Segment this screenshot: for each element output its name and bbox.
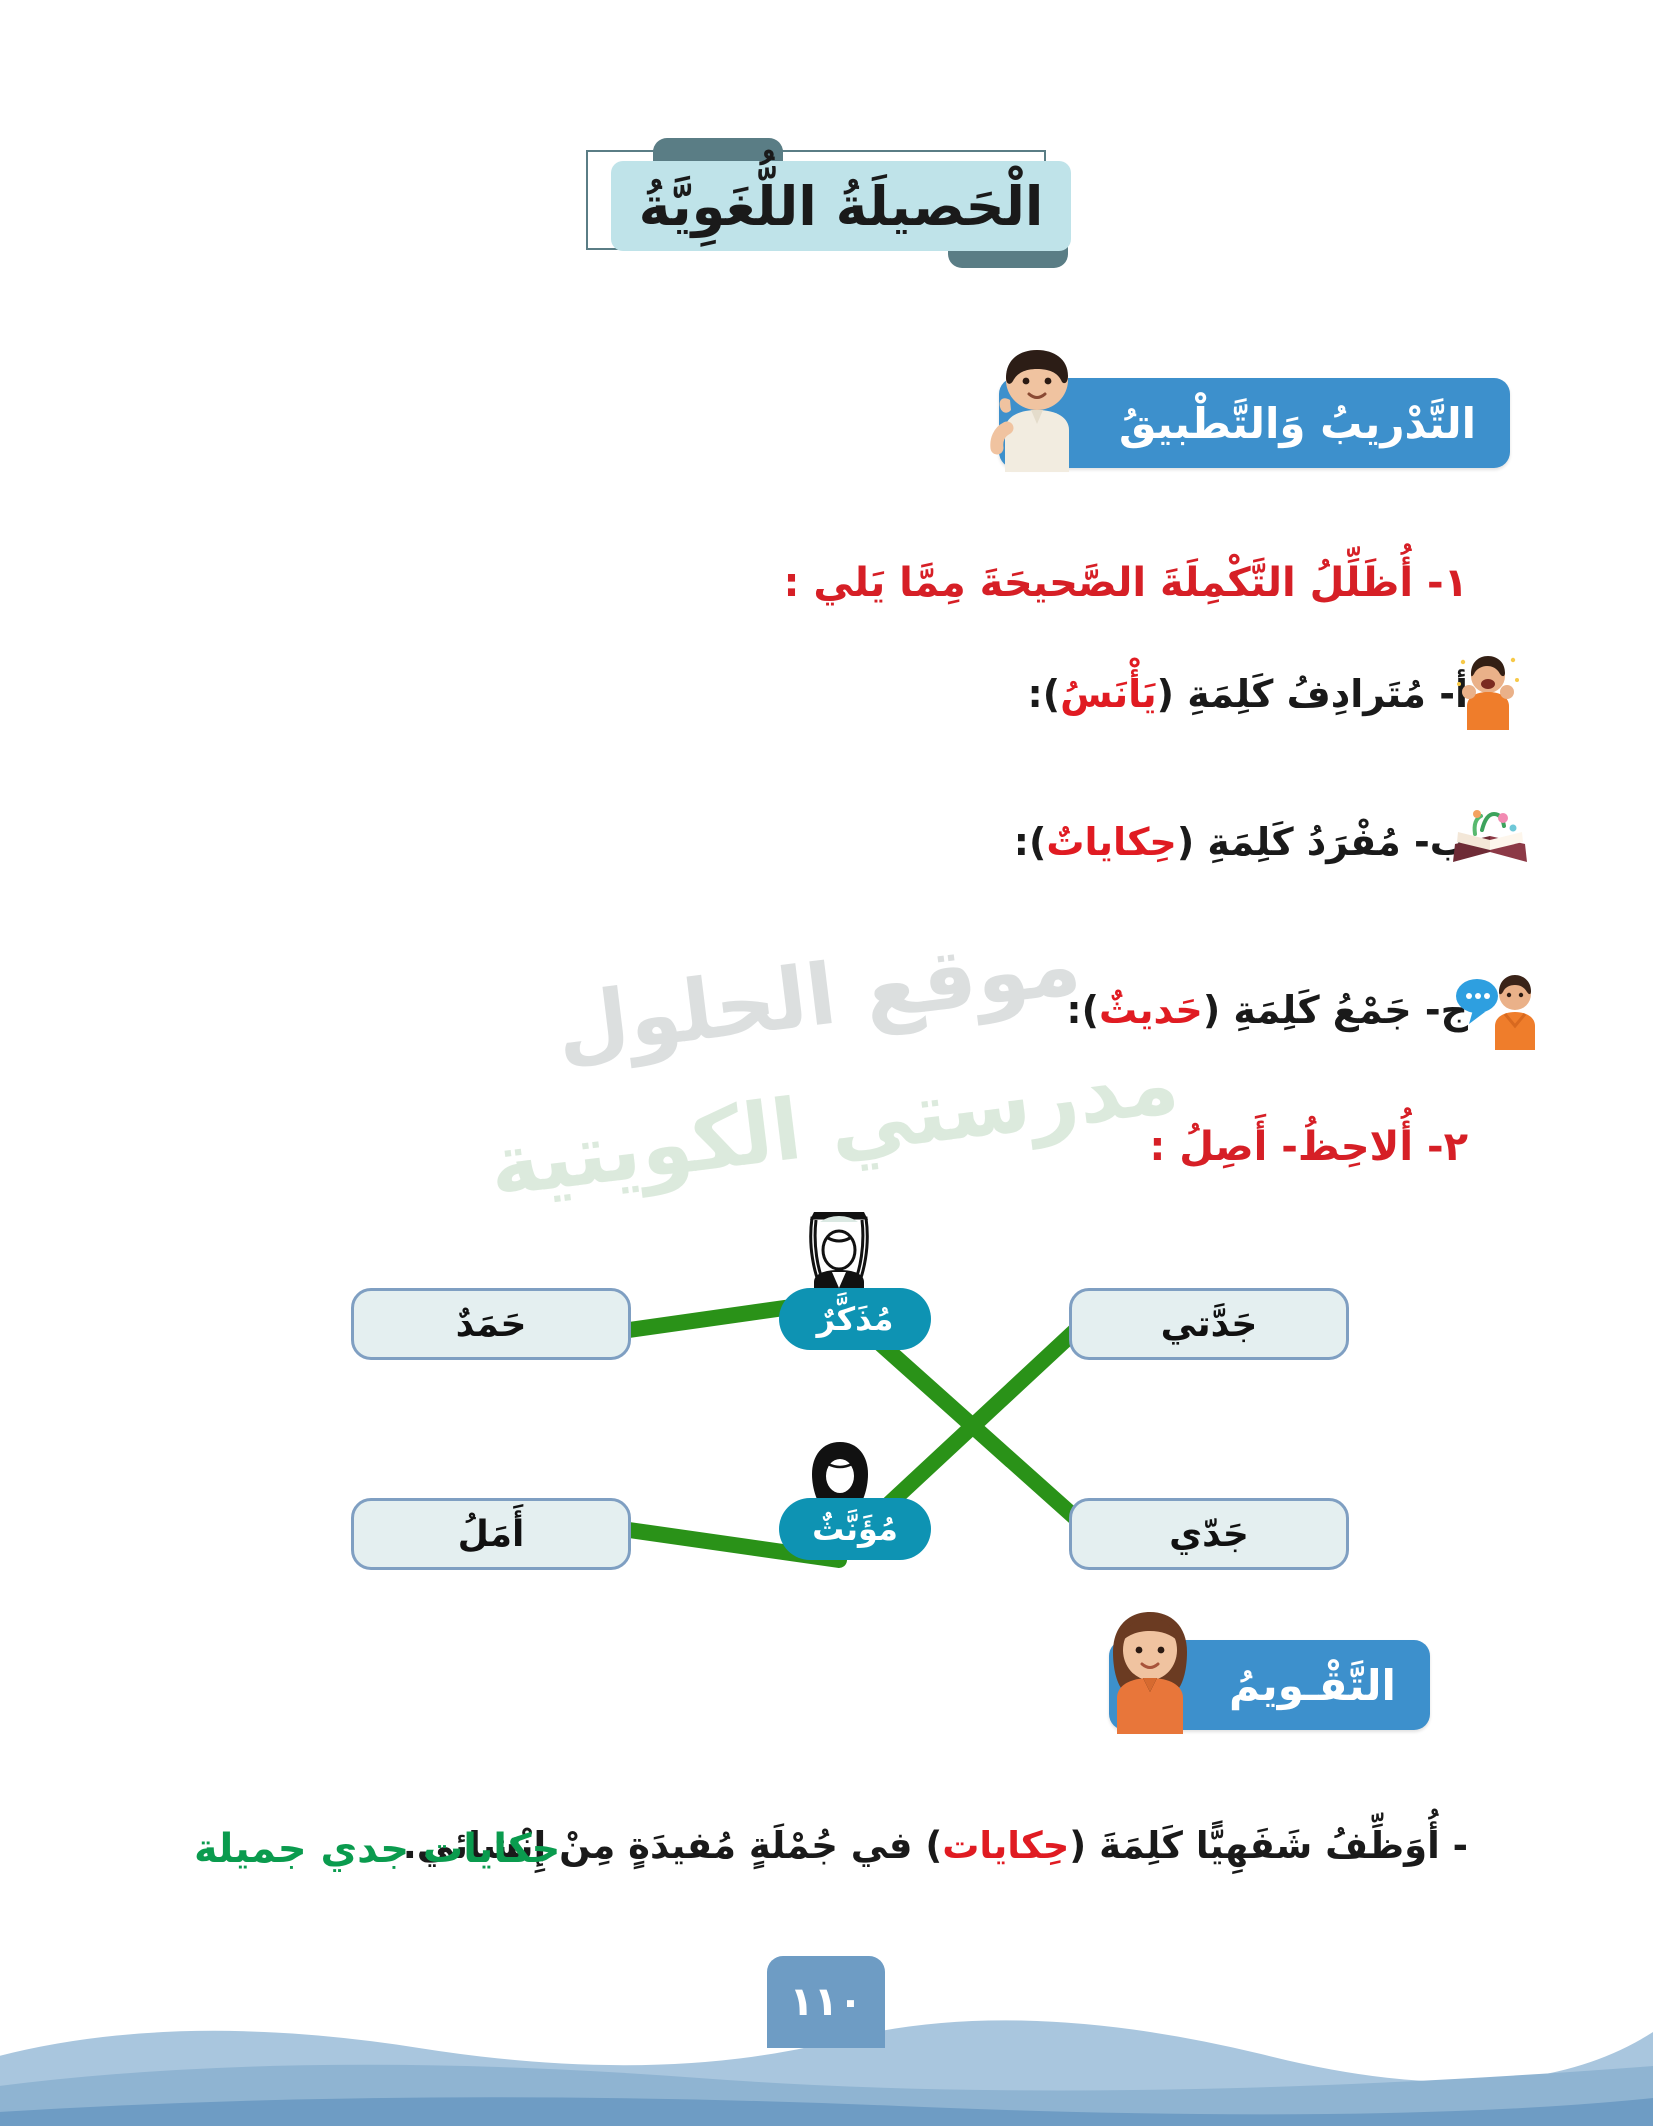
banner-label-training: التَّدْريبُ وَالتَّطْبيقُ [1120, 399, 1477, 448]
match-pill-masculine[interactable]: مُذَكَّرٌ [780, 1288, 932, 1350]
item-b-stem-before: مُفْرَدُ كَلِمَةِ ( [1178, 820, 1402, 864]
question-2-prompt: ٢- أُلاحِظُ- أَصِلُ : [1150, 1124, 1469, 1170]
item-c-keyword: حَديثٌ [1100, 988, 1204, 1032]
item-c-stem-before: جَمْعُ كَلِمَةِ ( [1204, 988, 1413, 1032]
page-title-text: الْحَصيلَةُ اللُّغَوِيَّةُ [640, 175, 1045, 238]
page-number: ١١٠ [790, 1979, 863, 2025]
worksheet-page: موقع الحلول مدرستي الكويتية الْحَصيلَةُ … [0, 0, 1654, 2126]
match-pill-feminine[interactable]: مُؤَنَّثٌ [780, 1498, 932, 1560]
item-a-stem-after: ): [1029, 672, 1062, 716]
item-a-keyword: يَأْنَسُ [1061, 672, 1158, 716]
question-1-item-c-stem: ج- جَمْعُ كَلِمَةِ (حَديثٌ): [1067, 988, 1469, 1032]
page-number-tab: ١١٠ [768, 1956, 886, 2048]
match-box-left-2[interactable]: أَمَلُ [352, 1498, 632, 1570]
watermark-line-2: مدرستي الكويتية [485, 1034, 1185, 1216]
open-book-icon [1448, 800, 1534, 880]
assessment-prompt-part1: - أُوَظِّفُ شَفَهِيًّا كَلِمَةَ ( [1070, 1824, 1469, 1867]
question-1-item-a-stem: أ- مُتَرادِفُ كَلِمَةِ (يَأْنَسُ): [1029, 672, 1469, 716]
boy-thinking-icon [982, 344, 1100, 472]
cheering-boy-icon [1454, 650, 1524, 730]
question-1-prompt: ١- أُظَلِّلُ التَّكْمِلَةَ الصَّحيحَةَ م… [784, 560, 1469, 606]
speech-bubble-boy-icon [1454, 968, 1546, 1050]
item-b-stem-after: ): [1015, 820, 1048, 864]
match-box-right-1[interactable]: جَدَّتي [1070, 1288, 1350, 1360]
page-title-block: الْحَصيلَةُ اللُّغَوِيَّةُ [0, 128, 1654, 263]
girl-smiling-icon [1092, 1606, 1210, 1734]
item-c-stem-after: ): [1067, 988, 1100, 1032]
student-answer[interactable]: حكايات جدي جميلة [195, 1826, 561, 1872]
matching-connectors [0, 0, 1654, 2126]
assessment-prompt: - أُوَظِّفُ شَفَهِيًّا كَلِمَةَ (حِكايات… [404, 1824, 1469, 1867]
match-box-right-2[interactable]: جَدّي [1070, 1498, 1350, 1570]
section-banner-assessment: التَّقْـويمُ [1110, 1640, 1431, 1730]
item-a-stem-before: مُتَرادِفُ كَلِمَةِ ( [1158, 672, 1427, 716]
banner-label-assessment: التَّقْـويمُ [1230, 1661, 1397, 1710]
section-banner-training: التَّدْريبُ وَالتَّطْبيقُ [1000, 378, 1511, 468]
assessment-prompt-keyword: حِكايات [943, 1824, 1070, 1867]
watermark-line-1: موقع الحلول [552, 915, 1087, 1076]
item-b-keyword: حِكاياتٌ [1047, 820, 1177, 864]
question-1-item-b-stem: ب- مُفْرَدُ كَلِمَةِ (حِكاياتٌ): [1015, 820, 1469, 864]
page-title: الْحَصيلَةُ اللُّغَوِيَّةُ [612, 161, 1072, 251]
match-box-left-1[interactable]: حَمَدٌ [352, 1288, 632, 1360]
